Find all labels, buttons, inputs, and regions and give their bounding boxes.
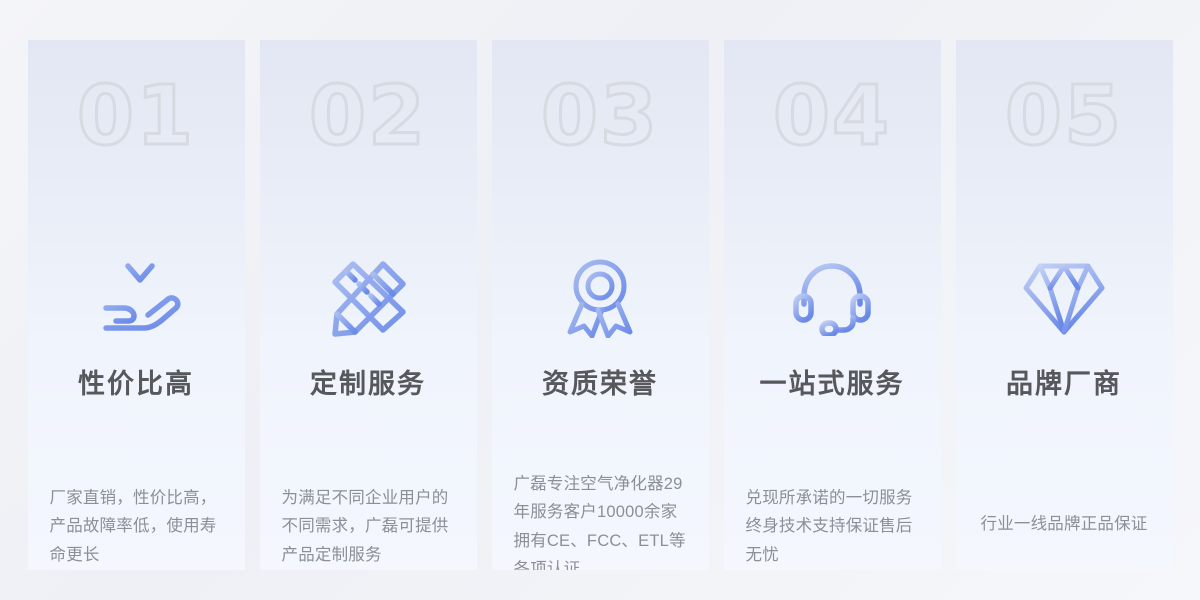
feature-card-4[interactable]: 04 一站式服务 兑现所承诺的一切服务终身技术支持保证售后: [724, 40, 941, 570]
card-number-03: 03: [492, 76, 709, 158]
card-desc-1: 厂家直销，性价比高，产品故障率低，使用寿命更长: [50, 484, 223, 569]
card-number-02: 02: [260, 76, 477, 158]
card-desc-4: 兑现所承诺的一切服务终身技术支持保证售后无忧: [746, 484, 919, 569]
card-number-01: 01: [28, 76, 245, 158]
card-number-04: 04: [724, 76, 941, 158]
card-title-2: 定制服务: [260, 362, 477, 401]
card-title-5: 品牌厂商: [956, 362, 1173, 401]
card-title-1: 性价比高: [28, 362, 245, 401]
card-desc-2: 为满足不同企业用户的不同需求，广磊可提供产品定制服务: [282, 484, 455, 569]
pen-ruler-icon: [260, 258, 477, 338]
feature-card-1[interactable]: 01: [28, 40, 245, 570]
card-title-4: 一站式服务: [724, 362, 941, 401]
card-desc-3: 广磊专注空气净化器29年服务客户10000余家拥有CE、FCC、ETL等各项认证: [514, 470, 687, 570]
feature-card-2[interactable]: 02 定制服务: [260, 40, 477, 570]
award-medal-icon: [492, 258, 709, 338]
card-title-3: 资质荣誉: [492, 362, 709, 401]
headset-icon: [724, 258, 941, 338]
hand-holding-yuan-icon: [28, 258, 245, 338]
feature-card-5[interactable]: 05 品牌厂商 行业一线品牌正品保证: [956, 40, 1173, 570]
card-desc-5: 行业一线品牌正品保证: [978, 510, 1151, 538]
features-section: 01: [0, 0, 1200, 600]
feature-card-3[interactable]: 03 资质荣誉 广磊专注空气净化器29年服务客户10000余家拥有CE、FCC、: [492, 40, 709, 570]
diamond-icon: [956, 258, 1173, 338]
card-number-05: 05: [956, 76, 1173, 158]
